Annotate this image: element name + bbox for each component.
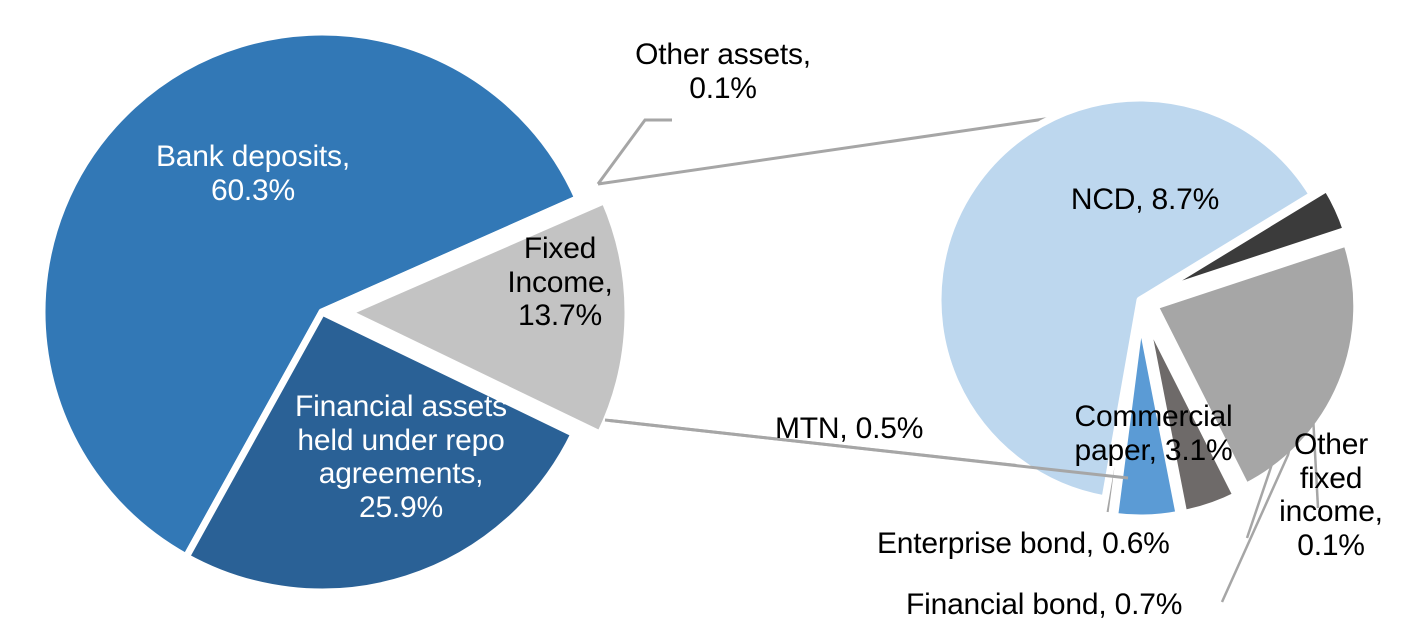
label-commercial-paper: Commercial paper, 3.1%: [1046, 400, 1261, 467]
label-other-fixed-income: Other fixed income, 0.1%: [1258, 428, 1404, 562]
label-mtn: MTN, 0.5%: [775, 412, 995, 446]
label-bank-deposits: Bank deposits, 60.3%: [118, 140, 388, 207]
label-financial-bond: Financial bond, 0.7%: [906, 588, 1256, 622]
label-enterprise-bond: Enterprise bond, 0.6%: [877, 527, 1247, 561]
pie-of-pie-chart: Bank deposits, 60.3% Other assets, 0.1% …: [0, 0, 1404, 644]
label-ncd: NCD, 8.7%: [1030, 183, 1260, 217]
label-repo-agreements: Financial assets held under repo agreeme…: [256, 390, 546, 524]
label-other-assets: Other assets, 0.1%: [598, 38, 848, 105]
label-fixed-income: Fixed Income, 13.7%: [480, 232, 640, 333]
